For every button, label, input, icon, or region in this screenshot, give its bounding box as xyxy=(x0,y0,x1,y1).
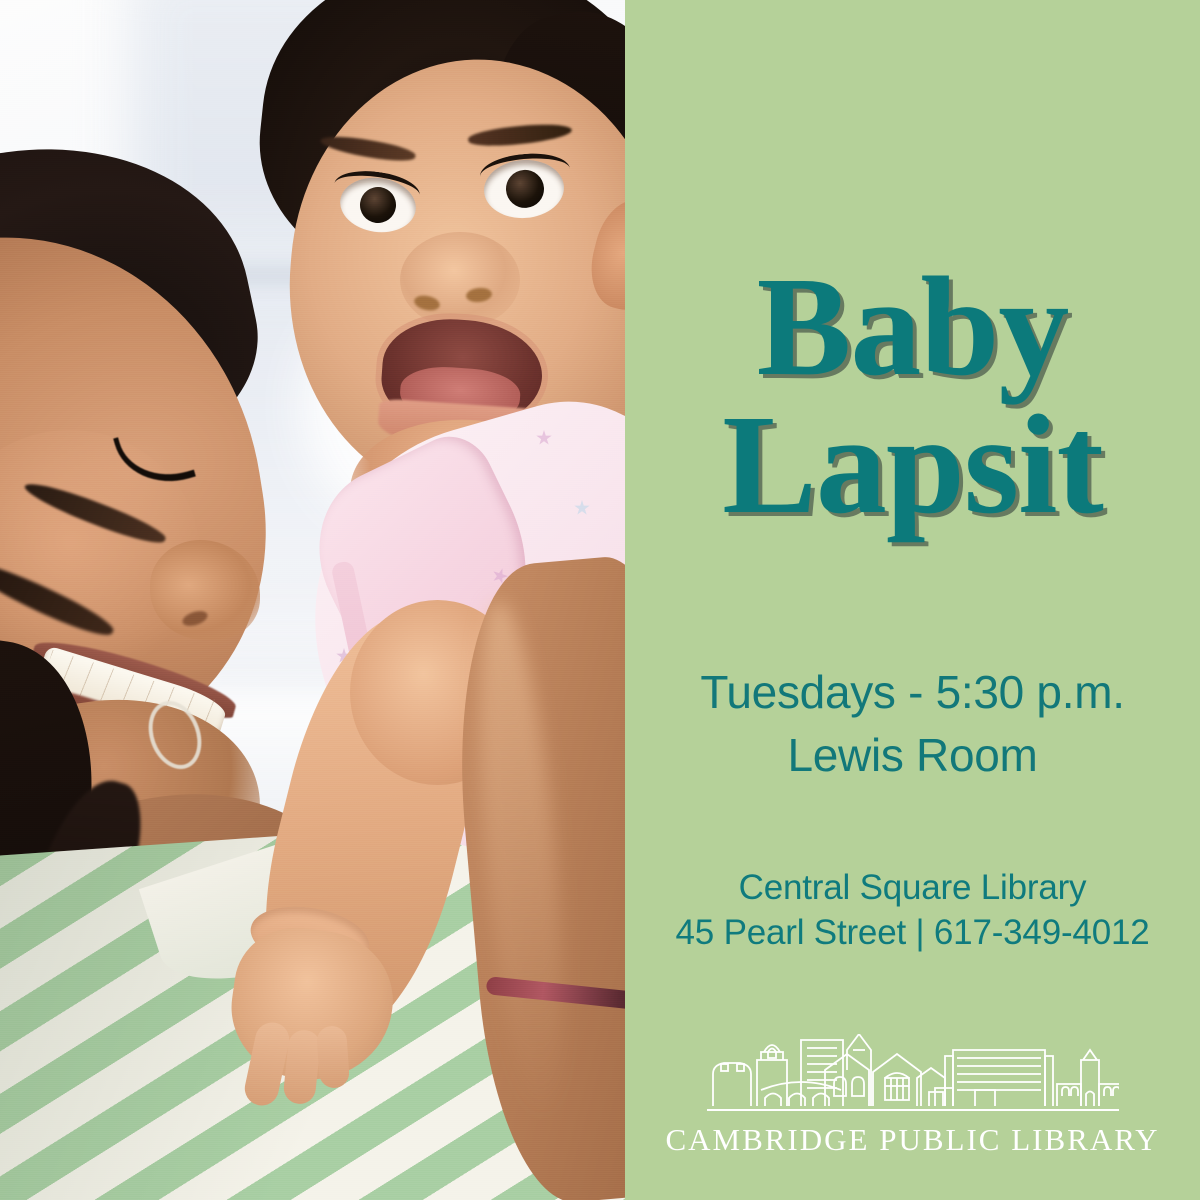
meeting-schedule: Tuesdays - 5:30 p.m. xyxy=(625,661,1200,724)
meeting-details: Tuesdays - 5:30 p.m. Lewis Room xyxy=(625,661,1200,786)
logo-divider xyxy=(707,1109,1119,1111)
baby-nose xyxy=(400,232,520,328)
info-panel: Baby Lapsit Tuesdays - 5:30 p.m. Lewis R… xyxy=(625,0,1200,1200)
library-logo: CAMBRIDGE PUBLIC LIBRARY xyxy=(707,1034,1119,1158)
title-line-1: Baby xyxy=(625,258,1200,396)
meeting-room: Lewis Room xyxy=(625,724,1200,787)
venue-details: Central Square Library 45 Pearl Street |… xyxy=(625,865,1200,956)
baby-finger xyxy=(316,1025,350,1089)
venue-branch: Central Square Library xyxy=(625,865,1200,911)
page-title: Baby Lapsit xyxy=(625,258,1200,533)
venue-address-phone: 45 Pearl Street | 617-349-4012 xyxy=(625,910,1200,956)
logo-wordmark: CAMBRIDGE PUBLIC LIBRARY xyxy=(665,1122,1159,1158)
city-skyline-icon xyxy=(707,1034,1119,1108)
baby-lapsit-flyer: Baby Lapsit Tuesdays - 5:30 p.m. Lewis R… xyxy=(0,0,1200,1200)
title-line-2: Lapsit xyxy=(625,396,1200,534)
hero-photo xyxy=(0,0,625,1200)
